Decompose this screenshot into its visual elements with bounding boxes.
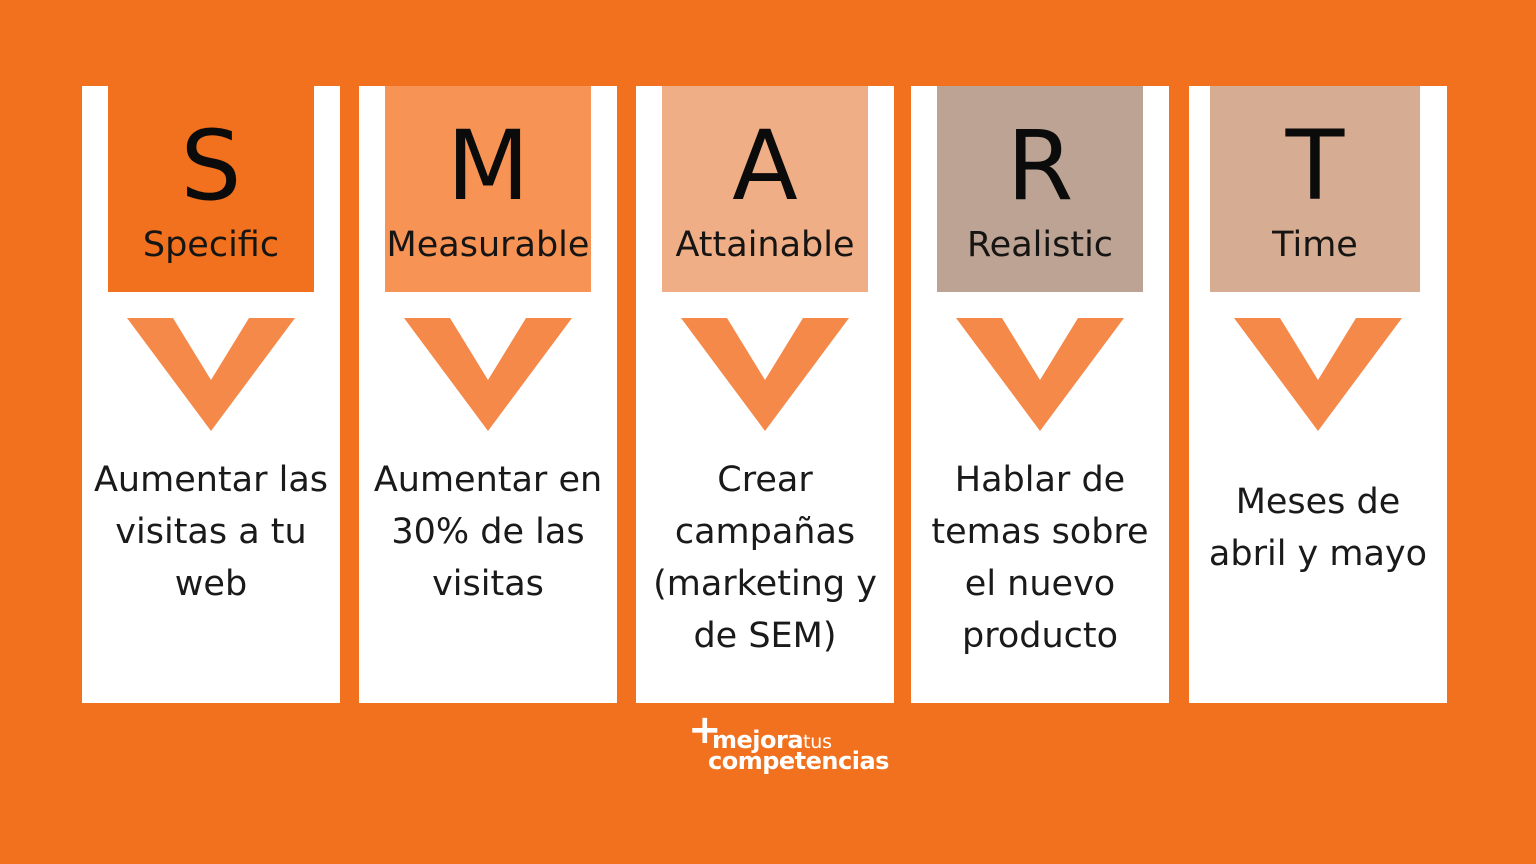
logo-word-competencias: competencias bbox=[708, 747, 889, 775]
smart-card-time: T Time Meses de abril y mayo bbox=[1189, 86, 1447, 703]
smart-label: Realistic bbox=[911, 222, 1169, 268]
smart-card-realistic: R Realistic Hablar de temas sobre el nue… bbox=[911, 86, 1169, 703]
chevron-down-icon bbox=[1189, 318, 1447, 438]
smart-description: Hablar de temas sobre el nuevo producto bbox=[921, 454, 1159, 662]
letter-block-specific: S Specific bbox=[108, 86, 314, 292]
smart-description: Crear campañas (marketing y de SEM) bbox=[646, 454, 884, 662]
chevron-down-icon bbox=[636, 318, 894, 438]
smart-goals-infographic: S Specific Aumentar las visitas a tu web… bbox=[0, 0, 1536, 864]
brand-logo: + mejoratus competencias bbox=[686, 714, 876, 776]
smart-description: Aumentar las visitas a tu web bbox=[92, 454, 330, 610]
letter-block-attainable: A Attainable bbox=[662, 86, 868, 292]
letter-block-time: T Time bbox=[1210, 86, 1420, 292]
logo-line-two: competencias bbox=[708, 749, 889, 773]
smart-description: Aumentar en 30% de las visitas bbox=[369, 454, 607, 610]
smart-description: Meses de abril y mayo bbox=[1199, 476, 1437, 580]
smart-label: Specific bbox=[82, 222, 340, 268]
smart-card-measurable: M Measurable Aumentar en 30% de las visi… bbox=[359, 86, 617, 703]
letter-block-realistic: R Realistic bbox=[937, 86, 1143, 292]
chevron-down-icon bbox=[911, 318, 1169, 438]
chevron-down-icon bbox=[82, 318, 340, 438]
smart-label: Attainable bbox=[636, 222, 894, 268]
smart-card-attainable: A Attainable Crear campañas (marketing y… bbox=[636, 86, 894, 703]
smart-letter: R bbox=[937, 114, 1143, 218]
smart-letter: M bbox=[385, 114, 591, 218]
smart-letter: S bbox=[108, 114, 314, 218]
smart-label: Measurable bbox=[359, 222, 617, 268]
smart-label: Time bbox=[1189, 222, 1441, 268]
smart-card-specific: S Specific Aumentar las visitas a tu web bbox=[82, 86, 340, 703]
smart-letter: A bbox=[662, 114, 868, 218]
smart-letter: T bbox=[1210, 114, 1420, 218]
chevron-down-icon bbox=[359, 318, 617, 438]
letter-block-measurable: M Measurable bbox=[385, 86, 591, 292]
